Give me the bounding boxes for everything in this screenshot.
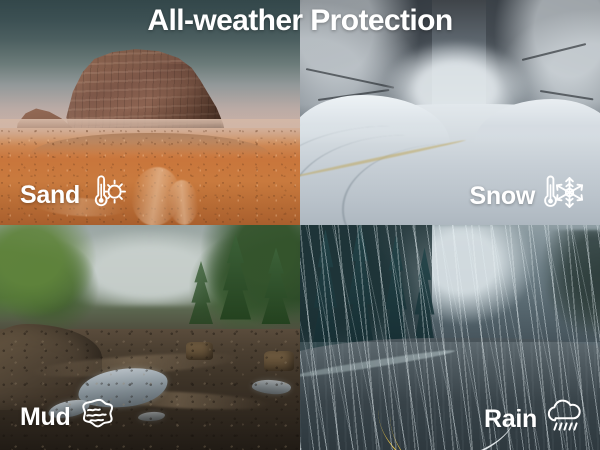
label-snow: Snow [470,173,584,220]
forest-left [0,225,114,333]
label-mud: Mud [20,395,117,440]
label-sand: Sand [20,173,127,218]
thermometer-snowflake-icon [542,173,584,220]
thermometer-sun-icon [87,173,127,218]
all-weather-protection-poster: All-weather Protection Sand Snow [0,0,600,450]
weather-panel-grid [0,0,600,450]
page-title: All-weather Protection [0,4,600,38]
label-snow-text: Snow [470,182,535,211]
label-rain: Rain [484,397,586,442]
label-sand-text: Sand [20,181,80,210]
label-mud-text: Mud [20,403,70,432]
label-rain-text: Rain [484,405,537,434]
mud-puddle-icon [77,395,117,440]
rain-cloud-icon [544,397,586,442]
